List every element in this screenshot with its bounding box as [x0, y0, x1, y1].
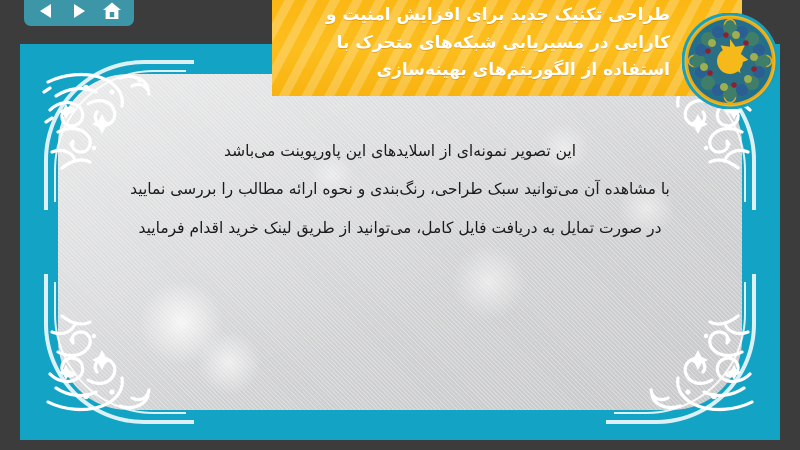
slide-viewer: این تصویر نمونه‌ای از اسلایدهای این پاور… — [0, 0, 800, 450]
home-icon — [102, 1, 122, 21]
title-line: طراحی تکنیک جدید برای افزایش امنیت و — [326, 2, 670, 30]
slide-body-text: این تصویر نمونه‌ای از اسلایدهای این پاور… — [20, 132, 780, 247]
body-line: در صورت تمایل به دریافت فایل کامل، می‌تو… — [60, 209, 740, 247]
title-line: کارایی در مسیریابی شبکه‌های متحرک با — [337, 30, 670, 58]
slide-canvas: این تصویر نمونه‌ای از اسلایدهای این پاور… — [20, 44, 780, 440]
body-line: این تصویر نمونه‌ای از اسلایدهای این پاور… — [60, 132, 740, 170]
body-line: با مشاهده آن می‌توانید سبک طراحی، رنگ‌بن… — [60, 170, 740, 208]
next-slide-button[interactable] — [66, 0, 92, 23]
persian-medallion-icon — [682, 13, 778, 109]
triangle-right-icon — [70, 2, 88, 20]
title-line: استفاده از الگوریتم‌های بهینه‌سازی — [377, 57, 670, 85]
navigation-toolbar — [24, 0, 134, 26]
home-button[interactable] — [99, 0, 125, 23]
triangle-left-icon — [37, 2, 55, 20]
slide-title-banner: طراحی تکنیک جدید برای افزایش امنیت و کار… — [272, 0, 742, 96]
previous-slide-button[interactable] — [33, 0, 59, 23]
